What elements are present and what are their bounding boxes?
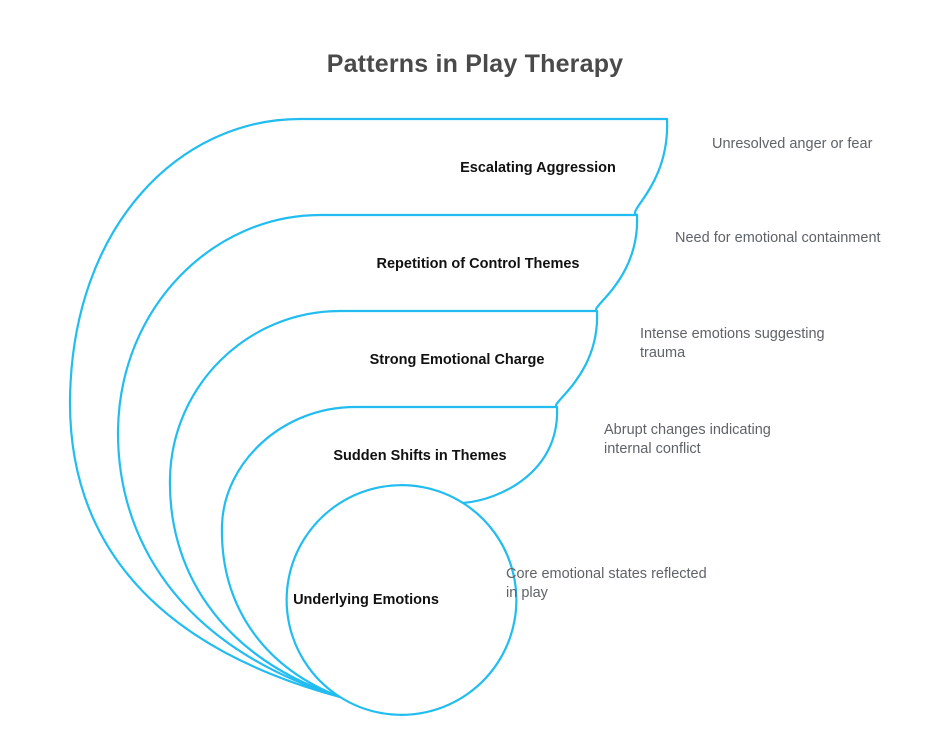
layer-description-escalating-aggression: Unresolved anger or fear (712, 135, 922, 154)
layer-label-strong-emotional-charge: Strong Emotional Charge (370, 352, 545, 368)
spiral-diagram-graphic (0, 0, 950, 756)
diagram-canvas: Patterns in Play Therapy Escalating Aggr… (0, 0, 950, 756)
layer-label-escalating-aggression: Escalating Aggression (460, 160, 616, 176)
layer-description-strong-emotional-charge: Intense emotions suggesting trauma (640, 325, 850, 362)
layer-description-sudden-shifts-in-themes: Abrupt changes indicating internal confl… (604, 421, 814, 458)
page-title: Patterns in Play Therapy (0, 50, 950, 79)
connector-repetition-of-control-themes (596, 215, 637, 311)
connector-escalating-aggression (635, 119, 667, 215)
arc-strong-emotional-charge (170, 311, 597, 697)
layer-label-underlying-emotions: Underlying Emotions (293, 592, 439, 608)
layer-description-underlying-emotions: Core emotional states reflected in play (506, 565, 716, 602)
layer-label-repetition-of-control-themes: Repetition of Control Themes (377, 256, 580, 272)
layer-description-repetition-of-control-themes: Need for emotional containment (675, 229, 885, 248)
layer-label-sudden-shifts-in-themes: Sudden Shifts in Themes (333, 448, 506, 464)
arc-escalating-aggression (70, 119, 667, 697)
connector-strong-emotional-charge (556, 311, 597, 407)
